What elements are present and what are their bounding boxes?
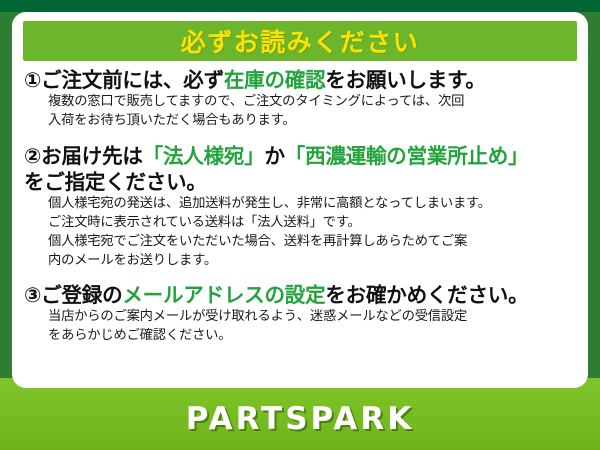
page-title: 必ずお読みください: [181, 23, 420, 59]
notice-item-1-sub-line-1: 複数の窓口で販売してますので、ご注文のタイミングによっては、次回: [22, 93, 578, 112]
item-spacer-1: [22, 133, 578, 143]
notice-item-3-head-text-b: をお確かめください。: [325, 283, 528, 307]
notice-item-2-head-text-b: か: [264, 144, 284, 168]
notice-item-3-highlight: メールアドレスの設定: [122, 283, 325, 307]
notice-card: 必ずお読みください ①ご注文前には、必ず在庫の確認をお願いします。 複数の窓口で…: [12, 12, 588, 388]
notice-item-2-heading-line2: をご指定ください。: [22, 169, 578, 195]
notice-item-2: ②お届け先は「法人様宛」か「西濃運輸の営業所止め」 をご指定ください。 個人様宅…: [22, 143, 578, 271]
notice-item-2-sub-line-3: 個人様宅宛でご注文をいただいた場合、送料を再計算しあらためてご案: [22, 233, 578, 252]
notice-item-3-head-text-a: ご登録の: [41, 283, 122, 307]
notice-item-1-head-text-b: をお願いします。: [325, 68, 485, 92]
notice-item-2-sub-line-4: 内のメールをお送りします。: [22, 252, 578, 271]
notice-item-3-number: ③: [24, 283, 41, 307]
notice-item-2-heading: ②お届け先は「法人様宛」か「西濃運輸の営業所止め」: [22, 143, 578, 169]
item-spacer-2: [22, 273, 578, 282]
notice-item-3-sub-line-1: 当店からのご案内メールが受け取れるよう、迷惑メールなどの受信設定: [22, 308, 578, 327]
notice-item-1-number: ①: [24, 68, 41, 92]
notice-item-3: ③ご登録のメールアドレスの設定をお確かめください。 当店からのご案内メールが受け…: [22, 282, 578, 346]
notice-item-2-sub-line-2: ご注文時に表示されている送料は「法人送料」です。: [22, 214, 578, 233]
notice-item-2-highlight-2: 「西濃運輸の営業所止め」: [285, 144, 529, 168]
notice-item-2-number: ②: [24, 144, 41, 168]
notice-item-1-highlight: 在庫の確認: [224, 68, 326, 92]
notice-item-3-sub-line-2: をあらかじめご確認ください。: [22, 327, 578, 346]
notice-item-1-heading: ①ご注文前には、必ず在庫の確認をお願いします。: [22, 67, 578, 93]
notice-item-3-heading: ③ご登録のメールアドレスの設定をお確かめください。: [22, 282, 578, 308]
notice-title-bar: 必ずお読みください: [23, 21, 577, 61]
notice-item-1-head-text-a: ご注文前には、必ず: [41, 68, 224, 92]
notice-item-1: ①ご注文前には、必ず在庫の確認をお願いします。 複数の窓口で販売してますので、ご…: [22, 67, 578, 131]
notice-item-2-highlight-1: 「法人様宛」: [143, 144, 265, 168]
notice-banner: 必ずお読みください ①ご注文前には、必ず在庫の確認をお願いします。 複数の窓口で…: [0, 0, 600, 450]
notice-item-2-head-text-a: お届け先は: [41, 144, 143, 168]
notice-item-2-sub-line-1: 個人様宅宛の発送は、追加送料が発生し、非常に高額となってしまいます。: [22, 195, 578, 214]
footer-green-band: [0, 378, 600, 450]
notice-item-1-sub-line-2: 入荷をお待ち頂いただく場合もあります。: [22, 112, 578, 131]
